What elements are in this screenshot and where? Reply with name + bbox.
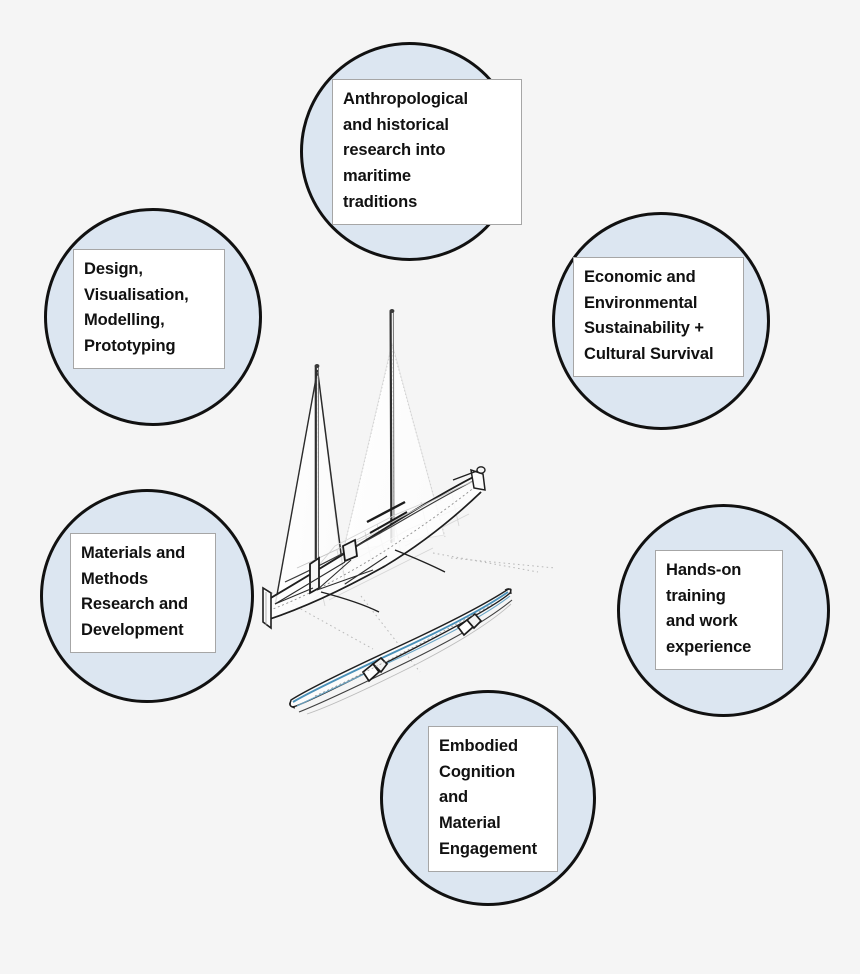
node-label-embodied-cognition: Embodied Cognition and Material Engageme… [428,726,558,872]
outrigger-saddles [363,614,481,681]
node-label-design-visualisation: Design, Visualisation, Modelling, Protot… [73,249,225,369]
node-label-economic-sustainability: Economic and Environmental Sustainabilit… [573,257,744,377]
diagram-canvas: Anthropological and historical research … [0,0,860,974]
node-label-materials-methods: Materials and Methods Research and Devel… [70,533,216,653]
node-label-anthropological-research: Anthropological and historical research … [332,79,522,225]
node-label-hands-on-training: Hands-on training and work experience [655,550,783,670]
hull-bow-transom [263,588,271,628]
